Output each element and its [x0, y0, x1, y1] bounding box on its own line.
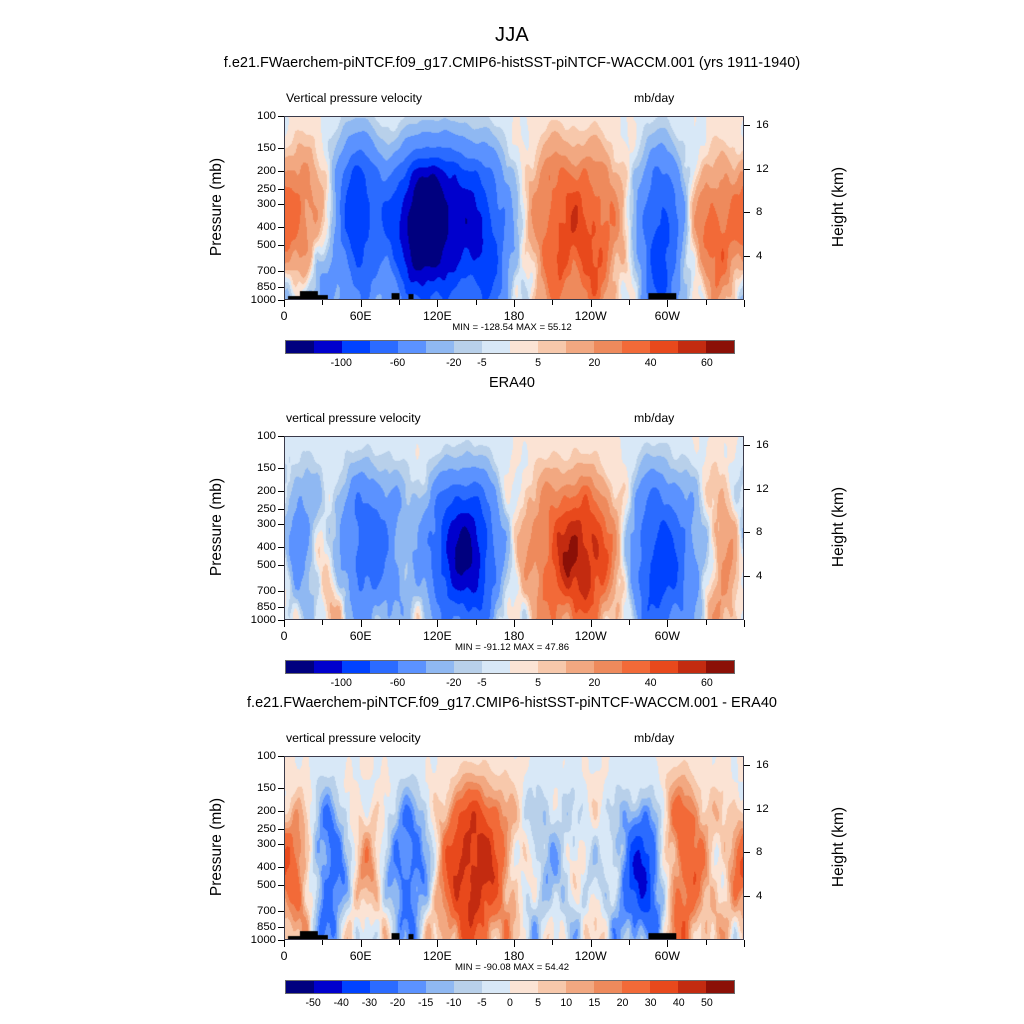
panel-obs-pressure-tickmark: [278, 524, 284, 525]
panel-difference-colorbar-cell-3: [370, 981, 398, 993]
panel-model-title: f.e21.FWaerchem-piNTCF.f09_g17.CMIP6-his…: [0, 55, 1024, 71]
panel-model-pressure-tickmark: [278, 287, 284, 288]
panel-difference-pressure-tick-1000: 1000: [236, 934, 276, 946]
panel-obs-colorbar-label-5: 5: [535, 677, 541, 689]
panel-model-pressure-tickmark: [278, 116, 284, 117]
figure-season-title: JJA: [0, 24, 1024, 47]
panel-obs-colorbar-cell-12: [622, 661, 650, 673]
panel-model-pressure-tickmark: [278, 204, 284, 205]
panel-obs-colorbar-cell-1: [314, 661, 342, 673]
panel-model-plot-area: [284, 116, 744, 300]
panel-obs-colorbar-label-20: 20: [588, 677, 600, 689]
panel-model-height-tickmark: [744, 169, 750, 170]
panel-obs-longitude-tickmark: [552, 620, 553, 625]
panel-difference-pressure-axis-name: Pressure (mb): [208, 762, 226, 932]
panel-model-pressure-tickmark: [278, 227, 284, 228]
panel-difference-longitude-tick-0: 0: [281, 949, 288, 963]
panel-model-colorbar-cell-13: [650, 341, 678, 353]
panel-model-colorbar-cell-10: [566, 341, 594, 353]
panel-model-colorbar-cell-12: [622, 341, 650, 353]
panel-difference-height-tickmark: [744, 896, 750, 897]
panel-obs-colorbar-label--20: -20: [446, 677, 461, 689]
panel-difference-longitude-tick-60E: 60E: [350, 949, 372, 963]
panel-difference: f.e21.FWaerchem-piNTCF.f09_g17.CMIP6-his…: [0, 695, 1024, 1020]
panel-difference-colorbar-label-40: 40: [673, 997, 685, 1009]
panel-model-pressure-tickmark: [278, 148, 284, 149]
panel-model-colorbar-cell-3: [370, 341, 398, 353]
panel-obs-longitude-tick-180: 180: [504, 629, 525, 643]
panel-obs-colorbar-cell-14: [678, 661, 706, 673]
panel-obs-pressure-tickmark: [278, 436, 284, 437]
panel-difference-height-tick-4: 4: [756, 890, 786, 902]
panel-difference-longitude-tickmark: [629, 940, 630, 945]
panel-model-pressure-axis-name: Pressure (mb): [208, 122, 226, 292]
panel-difference-colorbar-label--50: -50: [305, 997, 320, 1009]
panel-obs-plot-area: [284, 436, 744, 620]
panel-model-height-tickmark: [744, 212, 750, 213]
panel-model-colorbar-cell-0: [286, 341, 314, 353]
panel-difference-pressure-tick-700: 700: [236, 905, 276, 917]
panel-model-pressure-tick-200: 200: [236, 165, 276, 177]
panel-model-longitude-tickmark: [361, 300, 362, 307]
panel-difference-colorbar-cell-0: [286, 981, 314, 993]
panel-model-pressure-tick-850: 850: [236, 281, 276, 293]
panel-obs-pressure-tickmark: [278, 591, 284, 592]
panel-model-height-tick-12: 12: [756, 163, 786, 175]
panel-difference-pressure-tickmark: [278, 844, 284, 845]
panel-difference-colorbar-label-15: 15: [588, 997, 600, 1009]
panel-difference-pressure-tickmark: [278, 756, 284, 757]
panel-model-colorbar-cell-5: [426, 341, 454, 353]
panel-model-longitude-tick-60W: 60W: [655, 309, 680, 323]
panel-obs-longitude-tickmark: [667, 620, 668, 627]
panel-model-unit-label: mb/day: [634, 91, 674, 105]
panel-obs-height-tick-8: 8: [756, 526, 786, 538]
panel-obs-contour-field: [285, 437, 743, 619]
panel-difference-pressure-tick-850: 850: [236, 921, 276, 933]
panel-model-longitude-tickmark: [322, 300, 323, 305]
panel-obs-longitude-tickmark: [629, 620, 630, 625]
panel-difference-colorbar-cell-7: [482, 981, 510, 993]
panel-difference-pressure-tick-150: 150: [236, 782, 276, 794]
panel-obs-height-tickmark: [744, 489, 750, 490]
panel-difference-longitude-tickmark: [591, 940, 592, 947]
panel-model-pressure-tick-100: 100: [236, 110, 276, 122]
panel-model-pressure-tick-400: 400: [236, 221, 276, 233]
panel-model-colorbar-label-5: 5: [535, 357, 541, 369]
panel-obs-colorbar-swatches: [285, 660, 735, 674]
panel-obs-pressure-tick-500: 500: [236, 559, 276, 571]
panel-obs-height-tickmark: [744, 576, 750, 577]
panel-model-colorbar-label--100: -100: [331, 357, 352, 369]
panel-model-longitude-tick-60E: 60E: [350, 309, 372, 323]
panel-obs-longitude-tick-120W: 120W: [575, 629, 607, 643]
panel-obs-pressure-tick-200: 200: [236, 485, 276, 497]
panel-difference-title: f.e21.FWaerchem-piNTCF.f09_g17.CMIP6-his…: [0, 695, 1024, 711]
panel-obs-pressure-tick-300: 300: [236, 518, 276, 530]
panel-difference-colorbar-cell-15: [706, 981, 734, 993]
panel-difference-pressure-tickmark: [278, 927, 284, 928]
panel-difference-longitude-tickmark: [667, 940, 668, 947]
panel-model-pressure-tickmark: [278, 189, 284, 190]
panel-obs-longitude-tickmark: [706, 620, 707, 625]
panel-model-height-tickmark: [744, 256, 750, 257]
panel-model-longitude-tick-120E: 120E: [423, 309, 452, 323]
panel-obs-colorbar-label--100: -100: [331, 677, 352, 689]
panel-model-pressure-tick-300: 300: [236, 198, 276, 210]
panel-difference-colorbar-label--40: -40: [334, 997, 349, 1009]
panel-model-colorbar: -100-60-20-55204060: [285, 340, 735, 374]
panel-obs-colorbar-cell-15: [706, 661, 734, 673]
panel-obs-longitude-tickmark: [322, 620, 323, 625]
panel-obs-colorbar-cell-13: [650, 661, 678, 673]
panel-difference-pressure-tickmark: [278, 811, 284, 812]
panel-difference-colorbar: -50-40-30-20-15-10-505101520304050: [285, 980, 735, 1014]
panel-obs-height-tickmark: [744, 532, 750, 533]
panel-obs-pressure-tick-150: 150: [236, 462, 276, 474]
panel-model-longitude-tickmark: [399, 300, 400, 305]
panel-difference-height-axis-name: Height (km): [830, 762, 848, 932]
panel-model-pressure-tickmark: [278, 245, 284, 246]
panel-difference-longitude-tickmark: [284, 940, 285, 947]
panel-obs-colorbar-cell-9: [538, 661, 566, 673]
panel-difference-colorbar-label-30: 30: [645, 997, 657, 1009]
panel-difference-height-tickmark: [744, 852, 750, 853]
panel-difference-colorbar-label--20: -20: [390, 997, 405, 1009]
panel-obs-colorbar-cell-6: [454, 661, 482, 673]
panel-model-colorbar-cell-6: [454, 341, 482, 353]
panel-model-colorbar-cell-14: [678, 341, 706, 353]
panel-obs-colorbar-cell-2: [342, 661, 370, 673]
panel-obs-longitude-tick-60E: 60E: [350, 629, 372, 643]
panel-difference-longitude-tickmark: [514, 940, 515, 947]
panel-model-colorbar-label-20: 20: [588, 357, 600, 369]
panel-obs-colorbar-label--5: -5: [477, 677, 486, 689]
panel-obs-pressure-tickmark: [278, 607, 284, 608]
panel-obs-pressure-tickmark: [278, 491, 284, 492]
panel-model-height-tick-16: 16: [756, 119, 786, 131]
panel-difference-colorbar-label-20: 20: [617, 997, 629, 1009]
panel-difference-colorbar-cell-13: [650, 981, 678, 993]
panel-obs-longitude-tickmark: [361, 620, 362, 627]
panel-difference-pressure-tickmark: [278, 829, 284, 830]
panel-model-colorbar-cell-7: [482, 341, 510, 353]
panel-obs-height-tick-12: 12: [756, 483, 786, 495]
panel-difference-unit-label: mb/day: [634, 731, 674, 745]
panel-model-pressure-tick-250: 250: [236, 183, 276, 195]
panel-obs-pressure-tick-100: 100: [236, 430, 276, 442]
panel-difference-pressure-tickmark: [278, 885, 284, 886]
panel-difference-plot-area: [284, 756, 744, 940]
panel-difference-pressure-tick-100: 100: [236, 750, 276, 762]
panel-difference-colorbar-label-10: 10: [560, 997, 572, 1009]
panel-difference-pressure-tick-500: 500: [236, 879, 276, 891]
panel-difference-colorbar-cell-6: [454, 981, 482, 993]
panel-obs-colorbar-label-40: 40: [645, 677, 657, 689]
panel-difference-colorbar-cell-9: [538, 981, 566, 993]
panel-difference-longitude-tick-120E: 120E: [423, 949, 452, 963]
panel-difference-longitude-tickmark: [744, 940, 745, 947]
panel-model-colorbar-cell-4: [398, 341, 426, 353]
panel-model-pressure-tickmark: [278, 271, 284, 272]
panel-obs-height-tickmark: [744, 445, 750, 446]
panel-model-variable-label: Vertical pressure velocity: [286, 91, 422, 105]
panel-difference-longitude-tickmark: [706, 940, 707, 945]
panel-difference-height-tickmark: [744, 809, 750, 810]
panel-model-pressure-tickmark: [278, 171, 284, 172]
panel-difference-pressure-tick-400: 400: [236, 861, 276, 873]
panel-model-colorbar-cell-2: [342, 341, 370, 353]
figure-root: JJA f.e21.FWaerchem-piNTCF.f09_g17.CMIP6…: [0, 0, 1024, 1024]
panel-model-pressure-tick-700: 700: [236, 265, 276, 277]
panel-obs-pressure-tickmark: [278, 468, 284, 469]
panel-model-longitude-tick-0: 0: [281, 309, 288, 323]
panel-difference-pressure-tick-200: 200: [236, 805, 276, 817]
panel-difference-pressure-tick-300: 300: [236, 838, 276, 850]
panel-obs-pressure-tick-250: 250: [236, 503, 276, 515]
panel-model-colorbar-cell-15: [706, 341, 734, 353]
panel-difference-longitude-tick-60W: 60W: [655, 949, 680, 963]
panel-model-longitude-tickmark: [667, 300, 668, 307]
panel-difference-colorbar-cell-5: [426, 981, 454, 993]
panel-model-colorbar-label-60: 60: [701, 357, 713, 369]
panel-model-longitude-tickmark: [284, 300, 285, 307]
panel-difference-colorbar-label-50: 50: [701, 997, 713, 1009]
panel-difference-longitude-tickmark: [361, 940, 362, 947]
panel-obs-longitude-tickmark: [284, 620, 285, 627]
panel-model-height-axis-name: Height (km): [830, 122, 848, 292]
panel-obs-longitude-tick-60W: 60W: [655, 629, 680, 643]
panel-difference-longitude-tick-120W: 120W: [575, 949, 607, 963]
panel-difference-colorbar-label-5: 5: [535, 997, 541, 1009]
panel-obs-pressure-tick-850: 850: [236, 601, 276, 613]
panel-difference-colorbar-swatches: [285, 980, 735, 994]
panel-model-longitude-tick-180: 180: [504, 309, 525, 323]
panel-model-height-tick-8: 8: [756, 206, 786, 218]
panel-obs-longitude-tickmark: [399, 620, 400, 625]
panel-model-longitude-tickmark: [591, 300, 592, 307]
panel-obs-colorbar-cell-5: [426, 661, 454, 673]
panel-difference-colorbar-label-0: 0: [507, 997, 513, 1009]
panel-difference-colorbar-cell-2: [342, 981, 370, 993]
panel-model-longitude-tickmark: [437, 300, 438, 307]
panel-difference-pressure-tick-250: 250: [236, 823, 276, 835]
panel-obs-pressure-tickmark: [278, 509, 284, 510]
panel-obs-colorbar-label-60: 60: [701, 677, 713, 689]
panel-obs-longitude-tick-120E: 120E: [423, 629, 452, 643]
panel-obs-title: ERA40: [0, 375, 1024, 391]
panel-model-longitude-tickmark: [552, 300, 553, 305]
panel-obs-variable-label: vertical pressure velocity: [286, 411, 421, 425]
panel-obs-colorbar: -100-60-20-55204060: [285, 660, 735, 694]
panel-model-longitude-tickmark: [744, 300, 745, 307]
panel-difference-colorbar-label--10: -10: [446, 997, 461, 1009]
panel-model-pressure-tick-500: 500: [236, 239, 276, 251]
panel-obs-min-max-annotation: MIN = -91.12 MAX = 47.86: [0, 642, 1024, 653]
panel-difference-colorbar-label--30: -30: [362, 997, 377, 1009]
panel-obs-longitude-tickmark: [476, 620, 477, 625]
panel-model-colorbar-cell-1: [314, 341, 342, 353]
panel-difference-longitude-tickmark: [552, 940, 553, 945]
panel-difference-longitude-tickmark: [476, 940, 477, 945]
panel-obs-colorbar-cell-7: [482, 661, 510, 673]
panel-difference-colorbar-cell-8: [510, 981, 538, 993]
panel-model-colorbar-swatches: [285, 340, 735, 354]
panel-difference-longitude-tickmark: [399, 940, 400, 945]
panel-difference-height-tick-8: 8: [756, 846, 786, 858]
panel-difference-height-tick-16: 16: [756, 759, 786, 771]
panel-model-min-max-annotation: MIN = -128.54 MAX = 55.12: [0, 322, 1024, 333]
panel-model-colorbar-cell-8: [510, 341, 538, 353]
panel-obs-colorbar-cell-11: [594, 661, 622, 673]
panel-obs: ERA40vertical pressure velocitymb/day100…: [0, 375, 1024, 700]
panel-difference-colorbar-cell-12: [622, 981, 650, 993]
panel-obs-height-tick-16: 16: [756, 439, 786, 451]
panel-obs-colorbar-cell-3: [370, 661, 398, 673]
panel-difference-pressure-tickmark: [278, 867, 284, 868]
panel-difference-contour-field: [285, 757, 743, 939]
panel-difference-longitude-tickmark: [437, 940, 438, 947]
panel-obs-pressure-tick-1000: 1000: [236, 614, 276, 626]
panel-model-colorbar-label-40: 40: [645, 357, 657, 369]
panel-obs-pressure-tick-700: 700: [236, 585, 276, 597]
panel-difference-colorbar-cell-14: [678, 981, 706, 993]
panel-difference-pressure-tickmark: [278, 911, 284, 912]
panel-model-longitude-tickmark: [706, 300, 707, 305]
panel-model-colorbar-label--5: -5: [477, 357, 486, 369]
panel-difference-colorbar-cell-4: [398, 981, 426, 993]
panel-difference-variable-label: vertical pressure velocity: [286, 731, 421, 745]
panel-obs-pressure-axis-name: Pressure (mb): [208, 442, 226, 612]
panel-difference-longitude-tick-180: 180: [504, 949, 525, 963]
panel-obs-longitude-tickmark: [514, 620, 515, 627]
panel-difference-colorbar-cell-10: [566, 981, 594, 993]
panel-obs-unit-label: mb/day: [634, 411, 674, 425]
panel-obs-longitude-tick-0: 0: [281, 629, 288, 643]
panel-model-longitude-tickmark: [514, 300, 515, 307]
panel-difference-pressure-tickmark: [278, 788, 284, 789]
panel-obs-pressure-tick-400: 400: [236, 541, 276, 553]
panel-difference-colorbar-cell-1: [314, 981, 342, 993]
panel-difference-longitude-tickmark: [322, 940, 323, 945]
panel-obs-colorbar-cell-0: [286, 661, 314, 673]
panel-model-colorbar-cell-9: [538, 341, 566, 353]
panel-obs-colorbar-cell-4: [398, 661, 426, 673]
panel-model: f.e21.FWaerchem-piNTCF.f09_g17.CMIP6-his…: [0, 55, 1024, 380]
panel-difference-colorbar-label--5: -5: [477, 997, 486, 1009]
panel-obs-colorbar-cell-8: [510, 661, 538, 673]
panel-obs-height-axis-name: Height (km): [830, 442, 848, 612]
panel-model-colorbar-cell-11: [594, 341, 622, 353]
panel-obs-longitude-tickmark: [744, 620, 745, 627]
panel-model-colorbar-label--20: -20: [446, 357, 461, 369]
panel-obs-height-tick-4: 4: [756, 570, 786, 582]
panel-model-height-tickmark: [744, 125, 750, 126]
panel-model-height-tick-4: 4: [756, 250, 786, 262]
panel-obs-colorbar-cell-10: [566, 661, 594, 673]
panel-obs-longitude-tickmark: [591, 620, 592, 627]
panel-difference-height-tick-12: 12: [756, 803, 786, 815]
panel-obs-colorbar-label--60: -60: [390, 677, 405, 689]
panel-difference-min-max-annotation: MIN = -90.08 MAX = 54.42: [0, 962, 1024, 973]
panel-model-colorbar-label--60: -60: [390, 357, 405, 369]
panel-model-contour-field: [285, 117, 743, 299]
panel-model-longitude-tickmark: [476, 300, 477, 305]
panel-obs-pressure-tickmark: [278, 547, 284, 548]
panel-model-longitude-tick-120W: 120W: [575, 309, 607, 323]
panel-model-pressure-tick-1000: 1000: [236, 294, 276, 306]
panel-difference-colorbar-cell-11: [594, 981, 622, 993]
panel-model-longitude-tickmark: [629, 300, 630, 305]
panel-difference-height-tickmark: [744, 765, 750, 766]
panel-obs-longitude-tickmark: [437, 620, 438, 627]
panel-difference-colorbar-label--15: -15: [418, 997, 433, 1009]
panel-model-pressure-tick-150: 150: [236, 142, 276, 154]
panel-obs-pressure-tickmark: [278, 565, 284, 566]
